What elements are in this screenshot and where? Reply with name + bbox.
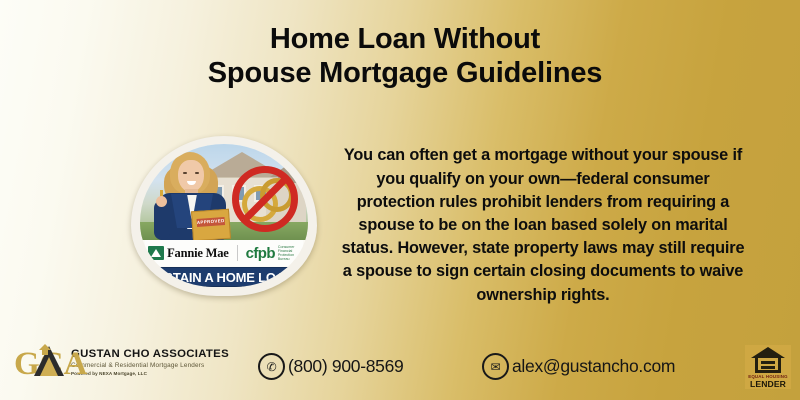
- title-line-1: Home Loan Without: [140, 22, 670, 56]
- agency-logo-strip: Fannie Mae cfpb Consumer Financial Prote…: [145, 240, 303, 266]
- phone-number[interactable]: (800) 900-8569: [288, 356, 403, 377]
- phone-icon: ✆: [258, 353, 285, 380]
- cfpb-logo: cfpb Consumer Financial Protection Burea…: [246, 245, 300, 262]
- approved-folder: APPROVED: [191, 209, 231, 240]
- cfpb-sublabel: Consumer Financial Protection Bureau: [278, 245, 300, 261]
- logo-divider: [237, 245, 238, 261]
- ehl-walls: [755, 357, 781, 373]
- equal-housing-lender-logo: EQUAL HOUSING LENDER: [745, 345, 791, 389]
- hand: [156, 196, 167, 207]
- face: [178, 160, 204, 192]
- badge-inner: APPROVED Fannie Mae cfpb: [140, 144, 308, 287]
- eye-right: [195, 172, 199, 174]
- title-line-2: Spouse Mortgage Guidelines: [140, 56, 670, 90]
- email-address[interactable]: alex@gustancho.com: [512, 356, 675, 377]
- company-tagline: Commercial & Residential Mortgage Lender…: [71, 361, 229, 370]
- page-title: Home Loan Without Spouse Mortgage Guidel…: [140, 22, 670, 90]
- no-wedding-rings-icon: [232, 166, 298, 232]
- agent-photo: APPROVED: [154, 148, 230, 240]
- fannie-mae-logo: Fannie Mae: [148, 246, 229, 261]
- equal-housing-house-icon: [751, 347, 785, 373]
- fannie-mae-house-icon: [148, 246, 164, 260]
- gca-monogram-icon: GCA: [14, 342, 66, 382]
- badge-illustration: APPROVED Fannie Mae cfpb: [131, 136, 317, 296]
- envelope-icon: ✉: [482, 353, 509, 380]
- fannie-mae-label: Fannie Mae: [167, 246, 229, 261]
- phone-contact[interactable]: ✆ (800) 900-8569: [258, 353, 403, 380]
- cfpb-label: cfpb: [246, 245, 275, 262]
- ehl-equals-bottom: [761, 366, 775, 369]
- badge-banner: OBTAIN A HOME LOAN: [142, 267, 306, 287]
- ehl-line-2: LENDER: [750, 379, 786, 389]
- ehl-equals-top: [761, 361, 775, 364]
- company-logo: GCA GUSTAN CHO ASSOCIATES Commercial & R…: [14, 342, 229, 382]
- email-contact[interactable]: ✉ alex@gustancho.com: [482, 353, 675, 380]
- body-paragraph: You can often get a mortgage without you…: [341, 144, 745, 306]
- approved-stamp: APPROVED: [197, 217, 225, 227]
- footer-bar: GCA GUSTAN CHO ASSOCIATES Commercial & R…: [0, 336, 800, 400]
- marketing-graphic: Home Loan Without Spouse Mortgage Guidel…: [0, 0, 800, 400]
- company-name: GUSTAN CHO ASSOCIATES: [71, 348, 229, 361]
- company-powered-by: Powered by NEXA Mortgage, LLC: [71, 370, 229, 377]
- eye-left: [183, 172, 187, 174]
- gca-house-icon: [39, 344, 51, 355]
- company-text-block: GUSTAN CHO ASSOCIATES Commercial & Resid…: [71, 348, 229, 377]
- badge-photo: APPROVED: [140, 144, 308, 240]
